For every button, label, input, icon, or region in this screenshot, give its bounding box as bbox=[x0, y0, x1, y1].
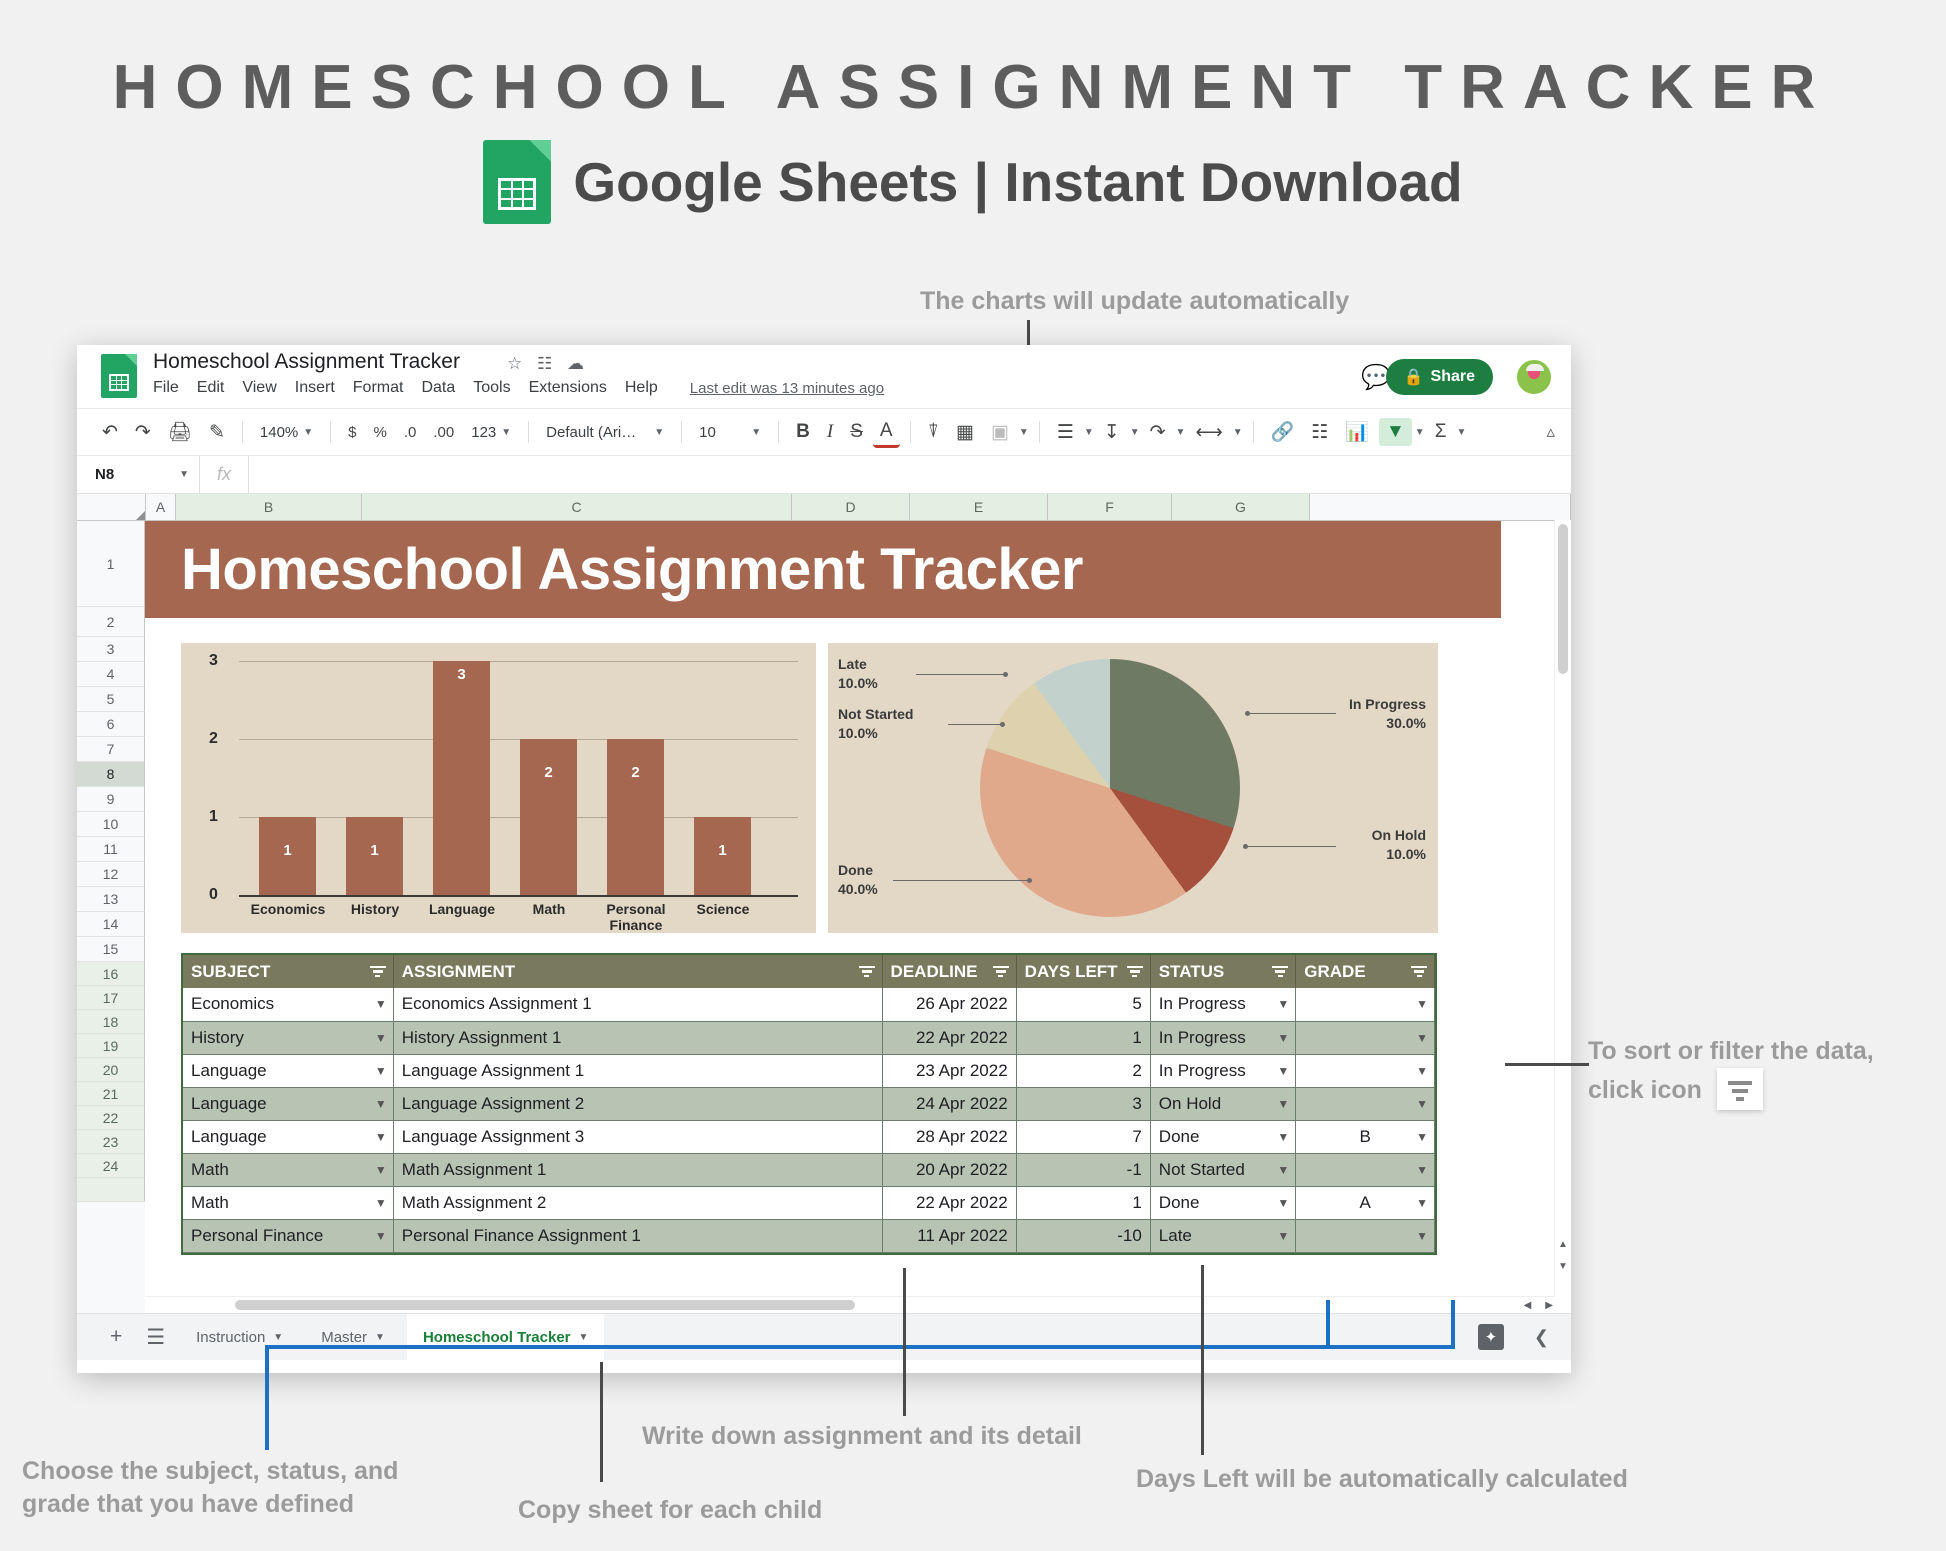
google-sheets-logo-icon bbox=[483, 140, 551, 224]
menu-help[interactable]: Help bbox=[625, 379, 658, 397]
row-header-25[interactable] bbox=[77, 1178, 145, 1202]
row-header-6[interactable]: 6 bbox=[77, 712, 145, 737]
column-header-a[interactable]: A bbox=[146, 494, 176, 520]
pie-label-done: Done 40.0% bbox=[838, 861, 878, 899]
menu-tools[interactable]: Tools bbox=[473, 379, 510, 397]
cell-deadline[interactable]: 20 Apr 2022 bbox=[882, 1153, 1016, 1186]
row-headers: 1 2 3 4 5 6 7 8 9 10 11 12 13 14 15 16 1… bbox=[77, 521, 145, 1313]
bar-language bbox=[433, 661, 490, 895]
dropdown-caret-icon[interactable]: ▼ bbox=[375, 1064, 387, 1078]
spreadsheet-grid: A B C D E F G 1 2 3 4 5 6 7 8 9 10 11 12 bbox=[77, 494, 1571, 1313]
cell-status[interactable]: Not Started▼ bbox=[1150, 1153, 1295, 1186]
row-header-5[interactable]: 5 bbox=[77, 687, 145, 712]
row-header-22[interactable]: 22 bbox=[77, 1106, 145, 1130]
pie-value-on-hold: 10.0% bbox=[1386, 846, 1426, 862]
currency-format-button[interactable]: $ bbox=[341, 421, 363, 444]
cell-days-left[interactable]: 5 bbox=[1016, 988, 1150, 1021]
horizontal-align-icon[interactable]: ☰ bbox=[1050, 418, 1081, 447]
dropdown-caret-icon[interactable]: ▼ bbox=[1277, 1163, 1289, 1177]
pie-label-in-progress-text: In Progress bbox=[1349, 696, 1426, 712]
dropdown-caret-icon[interactable]: ▼ bbox=[1416, 1130, 1428, 1144]
annotation-charts-update: The charts will update automatically bbox=[920, 285, 1349, 318]
dropdown-caret-icon[interactable]: ▼ bbox=[1416, 997, 1428, 1011]
cell-subject-text: Personal Finance bbox=[191, 1226, 323, 1245]
column-header-f[interactable]: F bbox=[1048, 494, 1172, 520]
menu-insert[interactable]: Insert bbox=[295, 379, 335, 397]
header-assignment[interactable]: ASSIGNMENT bbox=[393, 955, 882, 988]
filter-icon-deadline[interactable] bbox=[993, 966, 1009, 978]
horizontal-scrollbar-thumb[interactable] bbox=[235, 1300, 855, 1310]
cell-days-left[interactable]: 3 bbox=[1016, 1087, 1150, 1120]
decrease-decimal-button[interactable]: .0 bbox=[397, 421, 424, 444]
filter-icon-status[interactable] bbox=[1272, 966, 1288, 978]
page-title: HOMESCHOOL ASSIGNMENT TRACKER bbox=[0, 52, 1946, 123]
pie-leaderdot-in-progress bbox=[1245, 711, 1250, 716]
cell-status-text: On Hold bbox=[1159, 1094, 1221, 1113]
row-header-23[interactable]: 23 bbox=[77, 1130, 145, 1154]
row-header-20[interactable]: 20 bbox=[77, 1058, 145, 1082]
fx-icon: fx bbox=[199, 456, 249, 493]
row-header-12[interactable]: 12 bbox=[77, 862, 145, 887]
row-header-18[interactable]: 18 bbox=[77, 1010, 145, 1034]
insert-link-icon[interactable]: 🔗 bbox=[1264, 417, 1302, 447]
table-row[interactable]: Math▼ Math Assignment 1 20 Apr 2022 -1 N… bbox=[183, 1153, 1435, 1186]
cell-grade[interactable]: ▼ bbox=[1296, 988, 1435, 1021]
column-header-d[interactable]: D bbox=[792, 494, 910, 520]
column-header-e[interactable]: E bbox=[910, 494, 1048, 520]
sheets-file-icon bbox=[101, 354, 137, 398]
cell-subject-text: Economics bbox=[191, 994, 274, 1013]
cell-subject[interactable]: Language▼ bbox=[183, 1087, 393, 1120]
add-sheet-icon[interactable]: + bbox=[101, 1325, 131, 1349]
zoom-value: 140% bbox=[260, 424, 298, 441]
cell-deadline[interactable]: 23 Apr 2022 bbox=[882, 1054, 1016, 1087]
menu-view[interactable]: View bbox=[242, 379, 276, 397]
sheet-tab-homeschool-tracker-label: Homeschool Tracker bbox=[423, 1329, 571, 1346]
cell-subject[interactable]: Economics▼ bbox=[183, 988, 393, 1021]
cell-grade[interactable]: ▼ bbox=[1296, 1153, 1435, 1186]
sheet-tab-master[interactable]: Master▼ bbox=[305, 1314, 401, 1360]
leader-line-grade-blue bbox=[1451, 1300, 1455, 1348]
header-subject[interactable]: SUBJECT bbox=[183, 955, 393, 988]
assignment-table: SUBJECT ASSIGNMENT DEADLINE DAYS LEFT ST… bbox=[181, 953, 1437, 1255]
font-size-selector[interactable]: 10▼ bbox=[692, 420, 768, 445]
dropdown-caret-icon[interactable]: ▼ bbox=[375, 1196, 387, 1210]
row-header-24[interactable]: 24 bbox=[77, 1154, 145, 1178]
italic-button[interactable]: I bbox=[820, 418, 840, 446]
row-header-9[interactable]: 9 bbox=[77, 787, 145, 812]
cell-deadline[interactable]: 28 Apr 2022 bbox=[882, 1120, 1016, 1153]
cell-status[interactable]: In Progress▼ bbox=[1150, 988, 1295, 1021]
banner-title: Homeschool Assignment Tracker bbox=[181, 536, 1083, 603]
insert-comment-icon[interactable]: ☷ bbox=[1304, 418, 1335, 447]
pie-label-late-text: Late bbox=[838, 656, 867, 672]
text-rotation-icon[interactable]: ⟷ bbox=[1188, 418, 1229, 447]
filter-icon-subject[interactable] bbox=[370, 966, 386, 978]
bar-ytick-3: 3 bbox=[209, 652, 218, 670]
pie-value-in-progress: 30.0% bbox=[1386, 715, 1426, 731]
vertical-scroll-buttons[interactable]: ▲▼ bbox=[1555, 1239, 1571, 1279]
cell-subject[interactable]: Personal Finance▼ bbox=[183, 1219, 393, 1252]
cell-status-text: Not Started bbox=[1159, 1160, 1245, 1179]
pie-leader-not-started bbox=[948, 724, 1003, 725]
dropdown-caret-icon[interactable]: ▼ bbox=[375, 1031, 387, 1045]
row-header-19[interactable]: 19 bbox=[77, 1034, 145, 1058]
cloud-saved-icon[interactable]: ☁ bbox=[567, 354, 584, 374]
table-row[interactable]: Language▼ Language Assignment 2 24 Apr 2… bbox=[183, 1087, 1435, 1120]
cell-days-left[interactable]: 2 bbox=[1016, 1054, 1150, 1087]
pie-leaderdot-late bbox=[1003, 672, 1008, 677]
undo-icon[interactable]: ↶ bbox=[95, 418, 125, 447]
bar-label-personal-finance: Personal Finance bbox=[591, 901, 681, 933]
cell-subject[interactable]: History▼ bbox=[183, 1021, 393, 1054]
pie-value-done: 40.0% bbox=[838, 881, 878, 897]
dropdown-caret-icon[interactable]: ▼ bbox=[375, 1163, 387, 1177]
bar-math bbox=[520, 739, 577, 895]
pie-chart[interactable]: In Progress 30.0% On Hold 10.0% Done 40.… bbox=[828, 643, 1438, 933]
increase-decimal-button[interactable]: .00 bbox=[426, 421, 461, 444]
column-headers: A B C D E F G bbox=[77, 494, 1571, 521]
row-header-14[interactable]: 14 bbox=[77, 912, 145, 937]
cell-status-text: In Progress bbox=[1159, 1028, 1246, 1047]
collapse-toolbar-icon[interactable]: ▵ bbox=[1546, 422, 1555, 442]
cell-assignment[interactable]: Math Assignment 1 bbox=[393, 1153, 882, 1186]
tab-bar-right-controls: ✦ ❮ bbox=[1478, 1324, 1549, 1350]
avatar[interactable] bbox=[1515, 358, 1553, 396]
select-all-corner[interactable] bbox=[77, 494, 146, 520]
bar-label-history: History bbox=[330, 901, 420, 917]
cell-subject-text: History bbox=[191, 1028, 244, 1047]
menu-data[interactable]: Data bbox=[421, 379, 455, 397]
cell-status[interactable]: In Progress▼ bbox=[1150, 1054, 1295, 1087]
pie-label-on-hold-text: On Hold bbox=[1372, 827, 1426, 843]
star-icon[interactable]: ☆ bbox=[507, 354, 522, 374]
cell-status-text: Late bbox=[1159, 1226, 1192, 1245]
font-family-selector[interactable]: Default (Ari…▼ bbox=[539, 420, 671, 445]
header-deadline-label: DEADLINE bbox=[891, 962, 978, 981]
pie-label-not-started: Not Started 10.0% bbox=[838, 705, 913, 743]
horizontal-scrollbar[interactable] bbox=[145, 1296, 1555, 1313]
column-header-c[interactable]: C bbox=[362, 494, 792, 520]
filter-icon-grade[interactable] bbox=[1411, 966, 1427, 978]
dropdown-caret-icon[interactable]: ▼ bbox=[1416, 1064, 1428, 1078]
bar-ytick-2: 2 bbox=[209, 730, 218, 748]
dropdown-caret-icon[interactable]: ▼ bbox=[1416, 1031, 1428, 1045]
cell-status[interactable]: In Progress▼ bbox=[1150, 1021, 1295, 1054]
bar-gridline-2 bbox=[239, 739, 798, 740]
cell-status[interactable]: Done▼ bbox=[1150, 1186, 1295, 1219]
cell-status[interactable]: Done▼ bbox=[1150, 1120, 1295, 1153]
toolbar: ↶ ↷ 🖨 ✎ 140%▼ $ % .0 .00 123▼ Default (A… bbox=[77, 408, 1571, 456]
redo-icon[interactable]: ↷ bbox=[128, 418, 158, 447]
cell-grade-text: B bbox=[1359, 1127, 1370, 1146]
cell-status-text: In Progress bbox=[1159, 1061, 1246, 1080]
bar-label-math: Math bbox=[504, 901, 594, 917]
cell-days-left[interactable]: 1 bbox=[1016, 1021, 1150, 1054]
dropdown-caret-icon[interactable]: ▼ bbox=[375, 1097, 387, 1111]
cell-deadline[interactable]: 11 Apr 2022 bbox=[882, 1219, 1016, 1252]
menu-extensions[interactable]: Extensions bbox=[529, 379, 607, 397]
cell-days-left[interactable]: -10 bbox=[1016, 1219, 1150, 1252]
strikethrough-button[interactable]: S bbox=[843, 418, 870, 446]
row-header-1[interactable]: 1 bbox=[77, 521, 145, 607]
cell-assignment[interactable]: Language Assignment 3 bbox=[393, 1120, 882, 1153]
name-box[interactable]: N8 ▼ bbox=[77, 466, 199, 483]
move-to-folder-icon[interactable]: ☷ bbox=[537, 354, 552, 374]
bar-value-language: 3 bbox=[433, 666, 490, 683]
table-row[interactable]: History▼ History Assignment 1 22 Apr 202… bbox=[183, 1021, 1435, 1054]
sheet-content: Homeschool Assignment Tracker 3 2 1 0 bbox=[145, 521, 1571, 1313]
more-formats-label: 123 bbox=[471, 424, 496, 441]
header-assignment-label: ASSIGNMENT bbox=[402, 962, 515, 981]
row-header-11[interactable]: 11 bbox=[77, 837, 145, 862]
functions-icon[interactable]: Σ bbox=[1428, 418, 1454, 446]
leader-line-write-assignment bbox=[903, 1268, 906, 1416]
leader-line-subject-blue-vertical bbox=[265, 1345, 269, 1450]
pie-value-late: 10.0% bbox=[838, 675, 878, 691]
fill-color-icon[interactable]: ⍒ bbox=[921, 418, 946, 446]
cell-grade[interactable]: A▼ bbox=[1296, 1186, 1435, 1219]
bar-chart[interactable]: 3 2 1 0 1 1 3 2 bbox=[181, 643, 816, 933]
table-row[interactable]: Math▼ Math Assignment 2 22 Apr 2022 1 Do… bbox=[183, 1186, 1435, 1219]
cell-deadline[interactable]: 22 Apr 2022 bbox=[882, 1021, 1016, 1054]
header-grade-label: GRADE bbox=[1304, 962, 1365, 981]
cell-deadline[interactable]: 24 Apr 2022 bbox=[882, 1087, 1016, 1120]
header-status-label: STATUS bbox=[1159, 962, 1224, 981]
share-label: Share bbox=[1431, 368, 1475, 386]
sheet-tab-instruction[interactable]: Instruction▼ bbox=[180, 1314, 299, 1360]
row-header-17[interactable]: 17 bbox=[77, 986, 145, 1010]
row-header-8[interactable]: 8 bbox=[77, 762, 145, 787]
table-row[interactable]: Language▼ Language Assignment 3 28 Apr 2… bbox=[183, 1120, 1435, 1153]
bar-value-personal-finance: 2 bbox=[607, 764, 664, 781]
filter-icon-callout bbox=[1717, 1068, 1763, 1110]
vertical-scrollbar-thumb[interactable] bbox=[1558, 524, 1568, 674]
vertical-align-icon[interactable]: ↧ bbox=[1097, 418, 1127, 447]
merge-cells-icon[interactable]: ▣ bbox=[984, 418, 1016, 447]
leader-line-status-blue bbox=[1326, 1300, 1330, 1348]
bar-ytick-1: 1 bbox=[209, 808, 218, 826]
dropdown-caret-icon[interactable]: ▼ bbox=[1416, 1163, 1428, 1177]
insert-chart-icon[interactable]: 📊 bbox=[1338, 417, 1376, 447]
header-grade[interactable]: GRADE bbox=[1296, 955, 1435, 988]
more-formats-button[interactable]: 123▼ bbox=[464, 420, 518, 445]
cell-subject[interactable]: Math▼ bbox=[183, 1186, 393, 1219]
menu-file[interactable]: File bbox=[153, 379, 179, 397]
document-bar: Homeschool Assignment Tracker ☆ ☷ ☁ File… bbox=[77, 345, 1571, 408]
filter-icon-days-left[interactable] bbox=[1127, 966, 1143, 978]
row-header-15[interactable]: 15 bbox=[77, 937, 145, 962]
cell-days-left[interactable]: 1 bbox=[1016, 1186, 1150, 1219]
pie-label-late: Late 10.0% bbox=[838, 655, 878, 693]
bar-axis bbox=[239, 895, 798, 897]
cell-assignment[interactable]: Math Assignment 2 bbox=[393, 1186, 882, 1219]
sheet-banner: Homeschool Assignment Tracker bbox=[145, 521, 1501, 618]
cell-grade[interactable]: ▼ bbox=[1296, 1219, 1435, 1252]
chevron-left-icon[interactable]: ❮ bbox=[1534, 1327, 1549, 1348]
cell-assignment[interactable]: Language Assignment 2 bbox=[393, 1087, 882, 1120]
annotation-write-assignment: Write down assignment and its detail bbox=[642, 1420, 1082, 1453]
header-days-left-label: DAYS LEFT bbox=[1025, 962, 1118, 981]
annotation-sort-filter: To sort or filter the data, click icon bbox=[1588, 1035, 1928, 1110]
bar-value-science: 1 bbox=[694, 842, 751, 859]
dropdown-caret-icon[interactable]: ▼ bbox=[375, 1130, 387, 1144]
header-days-left[interactable]: DAYS LEFT bbox=[1016, 955, 1150, 988]
cell-status-text: In Progress bbox=[1159, 994, 1246, 1013]
filter-icon-assignment[interactable] bbox=[859, 966, 875, 978]
cell-days-left[interactable]: 7 bbox=[1016, 1120, 1150, 1153]
cell-assignment[interactable]: Economics Assignment 1 bbox=[393, 988, 882, 1021]
header-subject-label: SUBJECT bbox=[191, 962, 270, 981]
vertical-scrollbar[interactable] bbox=[1554, 520, 1571, 1297]
cell-grade[interactable]: ▼ bbox=[1296, 1087, 1435, 1120]
name-box-value: N8 bbox=[95, 466, 114, 483]
dropdown-caret-icon[interactable]: ▼ bbox=[1277, 997, 1289, 1011]
leader-line-subject-blue-horizontal bbox=[265, 1345, 1455, 1349]
cell-status[interactable]: On Hold▼ bbox=[1150, 1087, 1295, 1120]
column-header-b[interactable]: B bbox=[176, 494, 362, 520]
row-header-16[interactable]: 16 bbox=[77, 962, 145, 986]
pie-value-not-started: 10.0% bbox=[838, 725, 878, 741]
promo-subtitle-row: Google Sheets | Instant Download bbox=[0, 140, 1946, 224]
dropdown-caret-icon[interactable]: ▼ bbox=[1277, 1196, 1289, 1210]
dropdown-caret-icon[interactable]: ▼ bbox=[1277, 1130, 1289, 1144]
bar-label-science: Science bbox=[678, 901, 768, 917]
last-edit-status[interactable]: Last edit was 13 minutes ago bbox=[690, 380, 884, 397]
cell-subject-text: Language bbox=[191, 1094, 267, 1113]
cell-status-text: Done bbox=[1159, 1193, 1200, 1212]
leader-line-sort-filter bbox=[1505, 1063, 1589, 1066]
row-header-10[interactable]: 10 bbox=[77, 812, 145, 837]
google-sheets-window: Homeschool Assignment Tracker ☆ ☷ ☁ File… bbox=[77, 345, 1571, 1373]
cell-assignment[interactable]: Personal Finance Assignment 1 bbox=[393, 1219, 882, 1252]
row-header-4[interactable]: 4 bbox=[77, 662, 145, 687]
cell-days-left[interactable]: -1 bbox=[1016, 1153, 1150, 1186]
dropdown-caret-icon[interactable]: ▼ bbox=[1277, 1229, 1289, 1243]
bar-label-economics: Economics bbox=[243, 901, 333, 917]
dropdown-caret-icon[interactable]: ▼ bbox=[1277, 1064, 1289, 1078]
annotation-days-left: Days Left will be automatically calculat… bbox=[1136, 1463, 1628, 1496]
zoom-selector[interactable]: 140%▼ bbox=[253, 420, 320, 445]
bold-button[interactable]: B bbox=[789, 418, 817, 446]
annotation-copy-sheet: Copy sheet for each child bbox=[518, 1494, 822, 1527]
cell-grade[interactable]: B▼ bbox=[1296, 1120, 1435, 1153]
cell-subject[interactable]: Language▼ bbox=[183, 1120, 393, 1153]
cell-assignment[interactable]: History Assignment 1 bbox=[393, 1021, 882, 1054]
row-header-7[interactable]: 7 bbox=[77, 737, 145, 762]
cell-deadline[interactable]: 26 Apr 2022 bbox=[882, 988, 1016, 1021]
dropdown-caret-icon[interactable]: ▼ bbox=[1416, 1097, 1428, 1111]
cell-grade[interactable]: ▼ bbox=[1296, 1021, 1435, 1054]
percent-format-button[interactable]: % bbox=[367, 421, 394, 444]
row-header-21[interactable]: 21 bbox=[77, 1082, 145, 1106]
paint-format-icon[interactable]: ✎ bbox=[202, 418, 232, 447]
font-size-value: 10 bbox=[699, 424, 716, 441]
row-header-2[interactable]: 2 bbox=[77, 607, 145, 637]
menu-edit[interactable]: Edit bbox=[197, 379, 225, 397]
menu-bar: File Edit View Insert Format Data Tools … bbox=[153, 379, 884, 397]
dropdown-caret-icon[interactable]: ▼ bbox=[375, 997, 387, 1011]
text-color-button[interactable]: A bbox=[873, 417, 900, 448]
promo-subtitle-text: Google Sheets | Instant Download bbox=[573, 150, 1462, 214]
share-button[interactable]: 🔒 Share bbox=[1386, 359, 1493, 395]
text-wrap-icon[interactable]: ↷ bbox=[1143, 418, 1173, 447]
menu-format[interactable]: Format bbox=[353, 379, 404, 397]
annotation-sort-filter-line1: To sort or filter the data, bbox=[1588, 1037, 1874, 1065]
bar-label-language: Language bbox=[417, 901, 507, 917]
bar-value-math: 2 bbox=[520, 764, 577, 781]
table-row[interactable]: Personal Finance▼ Personal Finance Assig… bbox=[183, 1219, 1435, 1252]
pie-label-on-hold: On Hold 10.0% bbox=[1372, 826, 1426, 864]
pie-slices bbox=[980, 659, 1240, 917]
header-deadline[interactable]: DEADLINE bbox=[882, 955, 1016, 988]
cell-status[interactable]: Late▼ bbox=[1150, 1219, 1295, 1252]
row-header-13[interactable]: 13 bbox=[77, 887, 145, 912]
table-header-row: SUBJECT ASSIGNMENT DEADLINE DAYS LEFT ST… bbox=[183, 955, 1435, 988]
pie-leader-in-progress bbox=[1248, 713, 1336, 714]
horizontal-scroll-buttons[interactable]: ◀▶ bbox=[1524, 1297, 1553, 1313]
formula-bar: N8 ▼ fx bbox=[77, 456, 1571, 494]
cell-grade-text: A bbox=[1359, 1193, 1370, 1212]
lock-icon: 🔒 bbox=[1404, 367, 1424, 387]
document-title[interactable]: Homeschool Assignment Tracker bbox=[153, 350, 460, 374]
column-header-g[interactable]: G bbox=[1172, 494, 1310, 520]
cell-subject-text: Language bbox=[191, 1127, 267, 1146]
sheet-tab-bar: + ☰ Instruction▼ Master▼ Homeschool Trac… bbox=[77, 1313, 1571, 1360]
cell-subject[interactable]: Language▼ bbox=[183, 1054, 393, 1087]
filter-icon[interactable]: ▼ bbox=[1379, 418, 1412, 446]
header-status[interactable]: STATUS bbox=[1150, 955, 1295, 988]
pie-leaderdot-done bbox=[1027, 878, 1032, 883]
cell-subject-text: Math bbox=[191, 1160, 229, 1179]
bar-personal-finance bbox=[607, 739, 664, 895]
pie-label-not-started-text: Not Started bbox=[838, 706, 913, 722]
dropdown-caret-icon[interactable]: ▼ bbox=[1277, 1097, 1289, 1111]
dropdown-caret-icon[interactable]: ▼ bbox=[1416, 1229, 1428, 1243]
pie-label-done-text: Done bbox=[838, 862, 873, 878]
cell-subject[interactable]: Math▼ bbox=[183, 1153, 393, 1186]
cell-status-text: Done bbox=[1159, 1127, 1200, 1146]
sheet-tab-instruction-label: Instruction bbox=[196, 1329, 265, 1346]
annotation-subject-status: Choose the subject, status, and grade th… bbox=[22, 1455, 492, 1520]
dropdown-caret-icon[interactable]: ▼ bbox=[375, 1229, 387, 1243]
all-sheets-icon[interactable]: ☰ bbox=[137, 1325, 174, 1350]
borders-icon[interactable]: ▦ bbox=[949, 418, 981, 447]
pie-leader-on-hold bbox=[1246, 846, 1336, 847]
cell-assignment[interactable]: Language Assignment 1 bbox=[393, 1054, 882, 1087]
table-row[interactable]: Economics▼ Economics Assignment 1 26 Apr… bbox=[183, 988, 1435, 1021]
cell-grade[interactable]: ▼ bbox=[1296, 1054, 1435, 1087]
column-header-h[interactable] bbox=[1310, 494, 1571, 520]
bar-ytick-0: 0 bbox=[209, 886, 218, 904]
explore-icon[interactable]: ✦ bbox=[1478, 1324, 1504, 1350]
bar-value-history: 1 bbox=[346, 842, 403, 859]
bar-value-economics: 1 bbox=[259, 842, 316, 859]
dropdown-caret-icon[interactable]: ▼ bbox=[1416, 1196, 1428, 1210]
font-family-value: Default (Ari… bbox=[546, 424, 636, 441]
pie-leader-late bbox=[916, 674, 1006, 675]
row-header-3[interactable]: 3 bbox=[77, 637, 145, 662]
annotation-sort-filter-line2: click icon bbox=[1588, 1076, 1702, 1104]
table-row[interactable]: Language▼ Language Assignment 1 23 Apr 2… bbox=[183, 1054, 1435, 1087]
cell-deadline[interactable]: 22 Apr 2022 bbox=[882, 1186, 1016, 1219]
pie-leader-done bbox=[893, 880, 1030, 881]
sheet-tab-homeschool-tracker[interactable]: Homeschool Tracker▼ bbox=[407, 1314, 604, 1360]
sheet-tab-master-label: Master bbox=[321, 1329, 367, 1346]
print-icon[interactable]: 🖨 bbox=[161, 417, 199, 447]
dropdown-caret-icon[interactable]: ▼ bbox=[1277, 1031, 1289, 1045]
cell-subject-text: Language bbox=[191, 1061, 267, 1080]
